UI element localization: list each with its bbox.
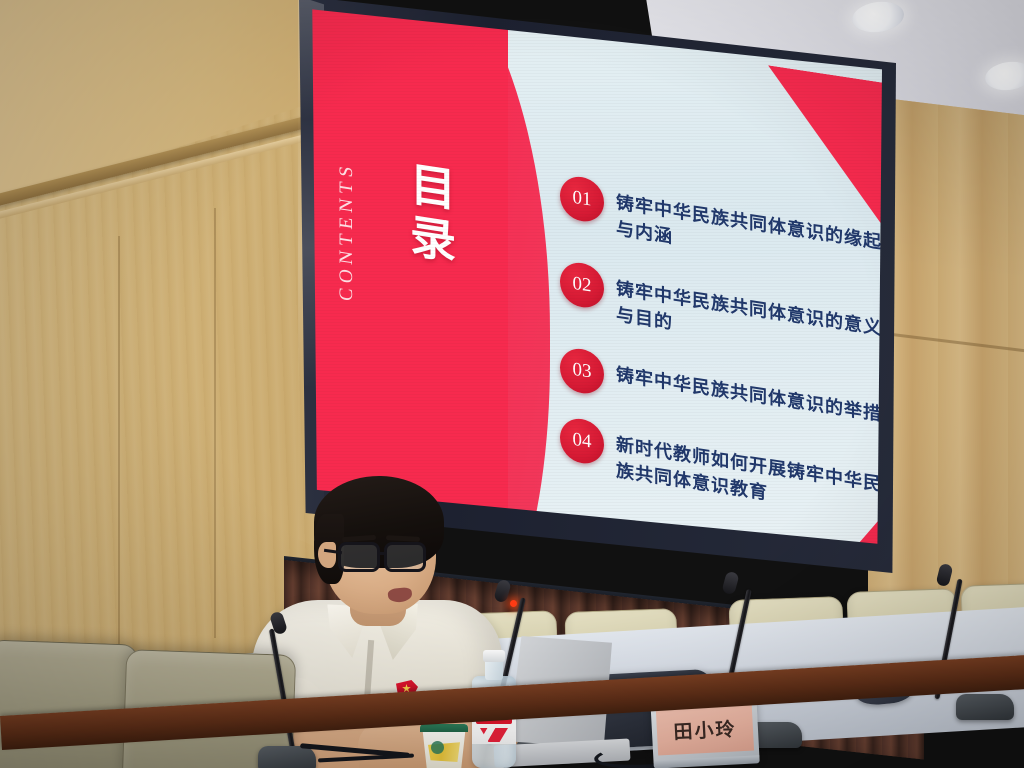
contents-item-number: 01 xyxy=(560,174,604,225)
nameplate-face: 田小玲 xyxy=(656,703,754,756)
contents-item-number: 02 xyxy=(560,260,604,311)
slide-title-chinese: 目录 xyxy=(396,157,462,271)
eyeglasses-lens-right xyxy=(384,542,426,572)
contents-item-label: 新时代教师如何开展铸牢中华民族共同体意识教育 xyxy=(616,425,882,527)
cup-seal-icon xyxy=(431,741,444,754)
eyeglasses-lens-left xyxy=(338,542,380,572)
contents-item-label: 铸牢中华民族共同体意识的意义与目的 xyxy=(616,268,882,370)
contents-item-label: 铸牢中华民族共同体意识的缘起与内涵 xyxy=(616,182,882,284)
cup-rim xyxy=(420,724,468,732)
contents-item-number: 03 xyxy=(560,346,604,397)
gooseneck-microphone xyxy=(918,568,1022,728)
paper-cup xyxy=(420,724,468,768)
microphone-stem xyxy=(269,629,296,756)
microphone-active-led-icon xyxy=(510,600,517,607)
contents-item-number: 04 xyxy=(560,416,604,467)
microphone-base xyxy=(258,746,316,768)
microphone-base xyxy=(956,694,1014,720)
nameplate-name-text: 田小玲 xyxy=(673,714,737,744)
contents-item-label: 铸牢中华民族共同体意识的举措 xyxy=(616,355,882,429)
wall-panel-seam xyxy=(118,236,120,656)
wall-panel-seam xyxy=(214,208,216,638)
slide-contents-list: 01 铸牢中华民族共同体意识的缘起与内涵 02 铸牢中华民族共同体意识的意义与目… xyxy=(560,174,882,552)
eyeglasses-bridge xyxy=(379,552,387,555)
bottle-cap xyxy=(483,650,505,662)
conference-room-scene: CONTENTS 目录 01 铸牢中华民族共同体意识的缘起与内涵 02 铸牢中华… xyxy=(0,0,1024,768)
contents-item: 04 新时代教师如何开展铸牢中华民族共同体意识教育 xyxy=(560,416,882,526)
slide-title-english: CONTENTS xyxy=(336,160,358,303)
person-ear xyxy=(318,542,336,568)
